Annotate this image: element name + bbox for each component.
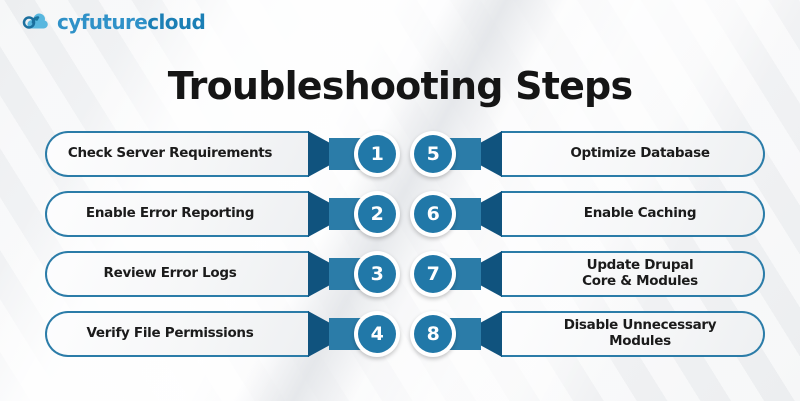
badge-disc: 6 — [414, 195, 452, 233]
cloud-infinity-icon — [20, 9, 50, 35]
step-label: Update Drupal Core & Modules — [582, 258, 698, 290]
ribbon-notch — [480, 191, 502, 237]
step-pill[interactable]: Enable Error Reporting — [45, 191, 309, 237]
step-item-1[interactable]: Check Server Requirements 1 — [45, 131, 400, 177]
step-number-badge[interactable]: 2 — [354, 191, 400, 237]
step-item-7[interactable]: Update Drupal Core & Modules 7 — [410, 251, 765, 297]
ribbon-notch — [480, 251, 502, 297]
badge-disc: 3 — [358, 255, 396, 293]
badge-disc: 4 — [358, 315, 396, 353]
step-pill[interactable]: Optimize Database — [501, 131, 765, 177]
step-item-4[interactable]: Verify File Permissions 4 — [45, 311, 400, 357]
step-label: Verify File Permissions — [87, 326, 254, 342]
brand-logo[interactable]: cyfuturecloud — [20, 9, 205, 35]
ribbon-notch — [308, 131, 330, 177]
step-number: 4 — [371, 325, 384, 344]
step-item-5[interactable]: Optimize Database 5 — [410, 131, 765, 177]
step-number-badge[interactable]: 6 — [410, 191, 456, 237]
step-pill[interactable]: Disable Unnecessary Modules — [501, 311, 765, 357]
step-row: Review Error Logs 3 Update Drupal Core &… — [0, 251, 800, 297]
step-number-badge[interactable]: 7 — [410, 251, 456, 297]
ribbon-connector-icon — [448, 251, 502, 297]
step-row: Enable Error Reporting 2 Enable Caching — [0, 191, 800, 237]
step-number-badge[interactable]: 4 — [354, 311, 400, 357]
step-item-3[interactable]: Review Error Logs 3 — [45, 251, 400, 297]
step-item-8[interactable]: Disable Unnecessary Modules 8 — [410, 311, 765, 357]
ribbon-notch — [480, 311, 502, 357]
step-row: Verify File Permissions 4 Disable Unnece… — [0, 311, 800, 357]
step-pill[interactable]: Review Error Logs — [45, 251, 309, 297]
step-number: 6 — [427, 205, 440, 224]
step-label: Check Server Requirements — [68, 146, 272, 162]
step-number: 5 — [427, 145, 440, 164]
step-number-badge[interactable]: 3 — [354, 251, 400, 297]
step-number: 1 — [371, 145, 384, 164]
step-label: Disable Unnecessary Modules — [564, 318, 717, 350]
step-item-2[interactable]: Enable Error Reporting 2 — [45, 191, 400, 237]
ribbon-notch — [308, 311, 330, 357]
badge-disc: 7 — [414, 255, 452, 293]
step-number-badge[interactable]: 8 — [410, 311, 456, 357]
step-pill[interactable]: Enable Caching — [501, 191, 765, 237]
step-number-badge[interactable]: 1 — [354, 131, 400, 177]
badge-disc: 8 — [414, 315, 452, 353]
step-label: Enable Caching — [584, 206, 696, 222]
step-pill[interactable]: Check Server Requirements — [45, 131, 309, 177]
brand-wordmark: cyfuturecloud — [57, 12, 205, 32]
step-item-6[interactable]: Enable Caching 6 — [410, 191, 765, 237]
ribbon-notch — [308, 251, 330, 297]
step-number: 8 — [427, 325, 440, 344]
ribbon-notch — [480, 131, 502, 177]
ribbon-notch — [308, 191, 330, 237]
brand-word-1: cyfuture — [57, 10, 147, 34]
ribbon-connector-icon — [448, 131, 502, 177]
ribbon-connector-icon — [448, 191, 502, 237]
brand-word-2: cloud — [147, 10, 205, 34]
badge-disc: 5 — [414, 135, 452, 173]
step-number-badge[interactable]: 5 — [410, 131, 456, 177]
infographic-canvas: cyfuturecloud Troubleshooting Steps Chec… — [0, 0, 800, 401]
badge-disc: 2 — [358, 195, 396, 233]
page-title: Troubleshooting Steps — [0, 64, 800, 108]
step-row: Check Server Requirements 1 Optimize Dat… — [0, 131, 800, 177]
step-pill[interactable]: Update Drupal Core & Modules — [501, 251, 765, 297]
badge-disc: 1 — [358, 135, 396, 173]
step-label: Enable Error Reporting — [86, 206, 254, 222]
step-pill[interactable]: Verify File Permissions — [45, 311, 309, 357]
step-number: 3 — [371, 265, 384, 284]
step-label: Optimize Database — [570, 146, 709, 162]
step-number: 2 — [371, 205, 384, 224]
ribbon-connector-icon — [448, 311, 502, 357]
step-number: 7 — [427, 265, 440, 284]
steps-grid: Check Server Requirements 1 Optimize Dat… — [0, 131, 800, 357]
step-label: Review Error Logs — [104, 266, 237, 282]
